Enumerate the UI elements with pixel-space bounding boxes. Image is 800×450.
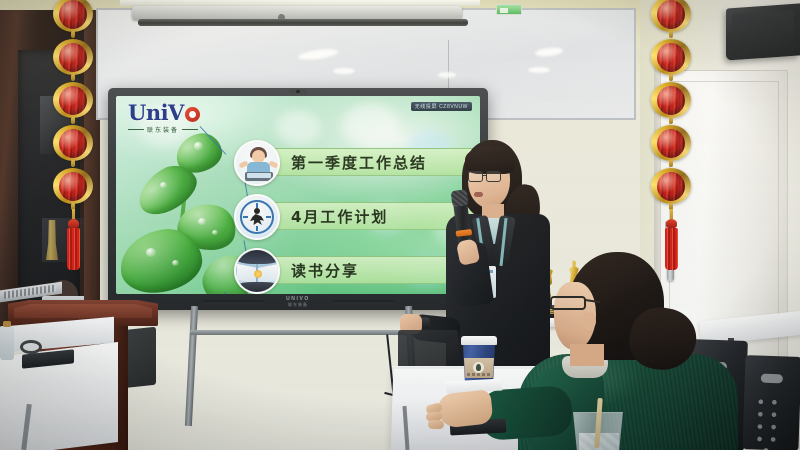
- lantern-red-ball: [657, 86, 685, 115]
- lantern-bead: [650, 166, 692, 206]
- chair-perforations: [752, 395, 788, 450]
- display-camera-icon: [289, 89, 307, 94]
- dew-drop: [146, 248, 156, 257]
- display-screen[interactable]: UniV 联东装备 无线投屏 CZ8VNUW 第一季度工作总结: [116, 96, 480, 294]
- cup-sleeve-text: [467, 373, 491, 376]
- presenter-mouth: [474, 192, 483, 197]
- dew-drop: [160, 182, 167, 188]
- display-brand-sublabel: 联东装备: [288, 302, 308, 308]
- dew-drop: [172, 260, 179, 266]
- interactive-flat-panel-display[interactable]: UniV 联东装备 无线投屏 CZ8VNUW 第一季度工作总结: [108, 88, 488, 310]
- lantern-red-ball: [59, 129, 87, 158]
- lantern-bead: [650, 80, 692, 120]
- lantern-bead: [52, 80, 94, 120]
- lantern-bead: [52, 166, 94, 206]
- dew-drop: [212, 230, 218, 235]
- lantern-red-ball: [657, 0, 685, 29]
- presenter-fringe: [465, 146, 515, 174]
- iced-drink-cup[interactable]: [572, 404, 624, 450]
- runner-figure-icon: [248, 208, 266, 226]
- whiteboard-glare: [535, 47, 564, 58]
- speaker-face: [732, 10, 794, 52]
- water-bottle: [0, 326, 14, 360]
- lantern-red-ball: [59, 86, 87, 115]
- whiteboard-glare: [298, 47, 339, 61]
- display-bottom-bezel: UNIVO 联东装备: [108, 294, 488, 310]
- clock-tick: [266, 216, 271, 218]
- logo-subtitle: 联东装备: [147, 125, 179, 134]
- tassel-knot: [666, 219, 677, 228]
- cup-lid: [461, 336, 497, 345]
- lantern-string-right: [650, 0, 692, 270]
- agenda-item-label: 4月工作计划: [291, 206, 388, 227]
- lantern-string-left: [52, 0, 94, 270]
- lantern-red-ball: [657, 172, 685, 201]
- whiteboard-glare: [528, 67, 550, 73]
- icon-bottom-shade: [234, 282, 280, 294]
- work-summary-icon: [234, 140, 280, 186]
- icon-top-shade: [234, 248, 280, 264]
- logo-rule-left: [128, 129, 144, 130]
- roller-screen-bar: [138, 19, 468, 26]
- logo-wordmark-text: UniV: [128, 100, 184, 125]
- book-sharing-icon: [234, 248, 280, 294]
- wall-speaker: [726, 3, 800, 60]
- whiteboard-glare: [438, 72, 456, 78]
- lantern-red-ball: [59, 0, 87, 29]
- lantern-red-ball: [59, 172, 87, 201]
- lantern-red-ball: [59, 43, 87, 72]
- clock-tick: [256, 226, 258, 231]
- whiteboard-glare: [333, 68, 355, 74]
- lantern-bead: [52, 123, 94, 163]
- logo-subtitle-row: 联东装备: [128, 125, 232, 134]
- screen-cast-tag: 无线投屏 CZ8VNUW: [411, 102, 472, 111]
- glasses-bridge: [483, 175, 487, 176]
- roller-screen-housing[interactable]: [132, 6, 462, 20]
- meeting-room-scene: UniV 联东装备 无线投屏 CZ8VNUW 第一季度工作总结: [0, 0, 800, 450]
- lantern-bead: [52, 37, 94, 77]
- lantern-bead: [650, 0, 692, 34]
- microphone-band: [456, 229, 473, 237]
- seated-neck: [570, 344, 604, 366]
- tassel-knot: [68, 219, 79, 228]
- logo-wordmark: UniV: [128, 102, 232, 124]
- speaker-grille-right: [332, 300, 394, 304]
- speaker-grille-left: [202, 300, 264, 304]
- cup-logo-icon: [473, 362, 484, 373]
- work-plan-icon: [234, 194, 280, 240]
- book-glow: [254, 270, 262, 278]
- glasses-icon: [550, 296, 586, 310]
- lantern-bead: [52, 0, 94, 34]
- tassel-cord: [670, 209, 673, 219]
- display-brand: UNIVO 联东装备: [286, 296, 310, 308]
- logo-o-mark: [185, 107, 200, 122]
- lantern-bead: [650, 37, 692, 77]
- dew-drop: [194, 142, 203, 150]
- seated-hand: [436, 389, 493, 428]
- slide-company-logo: UniV 联东装备: [128, 102, 232, 136]
- seated-ear: [582, 312, 596, 330]
- lectern-top-face: [14, 304, 152, 318]
- display-stand-crossbar: [190, 330, 412, 335]
- seated-finger: [428, 420, 444, 430]
- stacking-chair[interactable]: [742, 355, 800, 450]
- tassel-cord: [72, 209, 75, 219]
- lantern-red-ball: [657, 129, 685, 158]
- icon-laptop: [245, 172, 273, 181]
- lantern-red-ball: [657, 43, 685, 72]
- agenda-item-label: 第一季度工作总结: [291, 152, 427, 173]
- glasses-icon: [468, 171, 483, 182]
- tassel-body: [67, 228, 80, 270]
- dew-drop: [198, 218, 206, 225]
- seated-woman: [538, 252, 738, 450]
- logo-rule-right: [182, 129, 198, 130]
- agenda-item-label: 读书分享: [291, 260, 359, 281]
- exit-sign-icon: [496, 4, 522, 15]
- glasses-icon: [486, 171, 501, 182]
- microphone-head: [451, 189, 469, 207]
- chair-back-slot: [761, 374, 783, 384]
- lantern-bead: [650, 123, 692, 163]
